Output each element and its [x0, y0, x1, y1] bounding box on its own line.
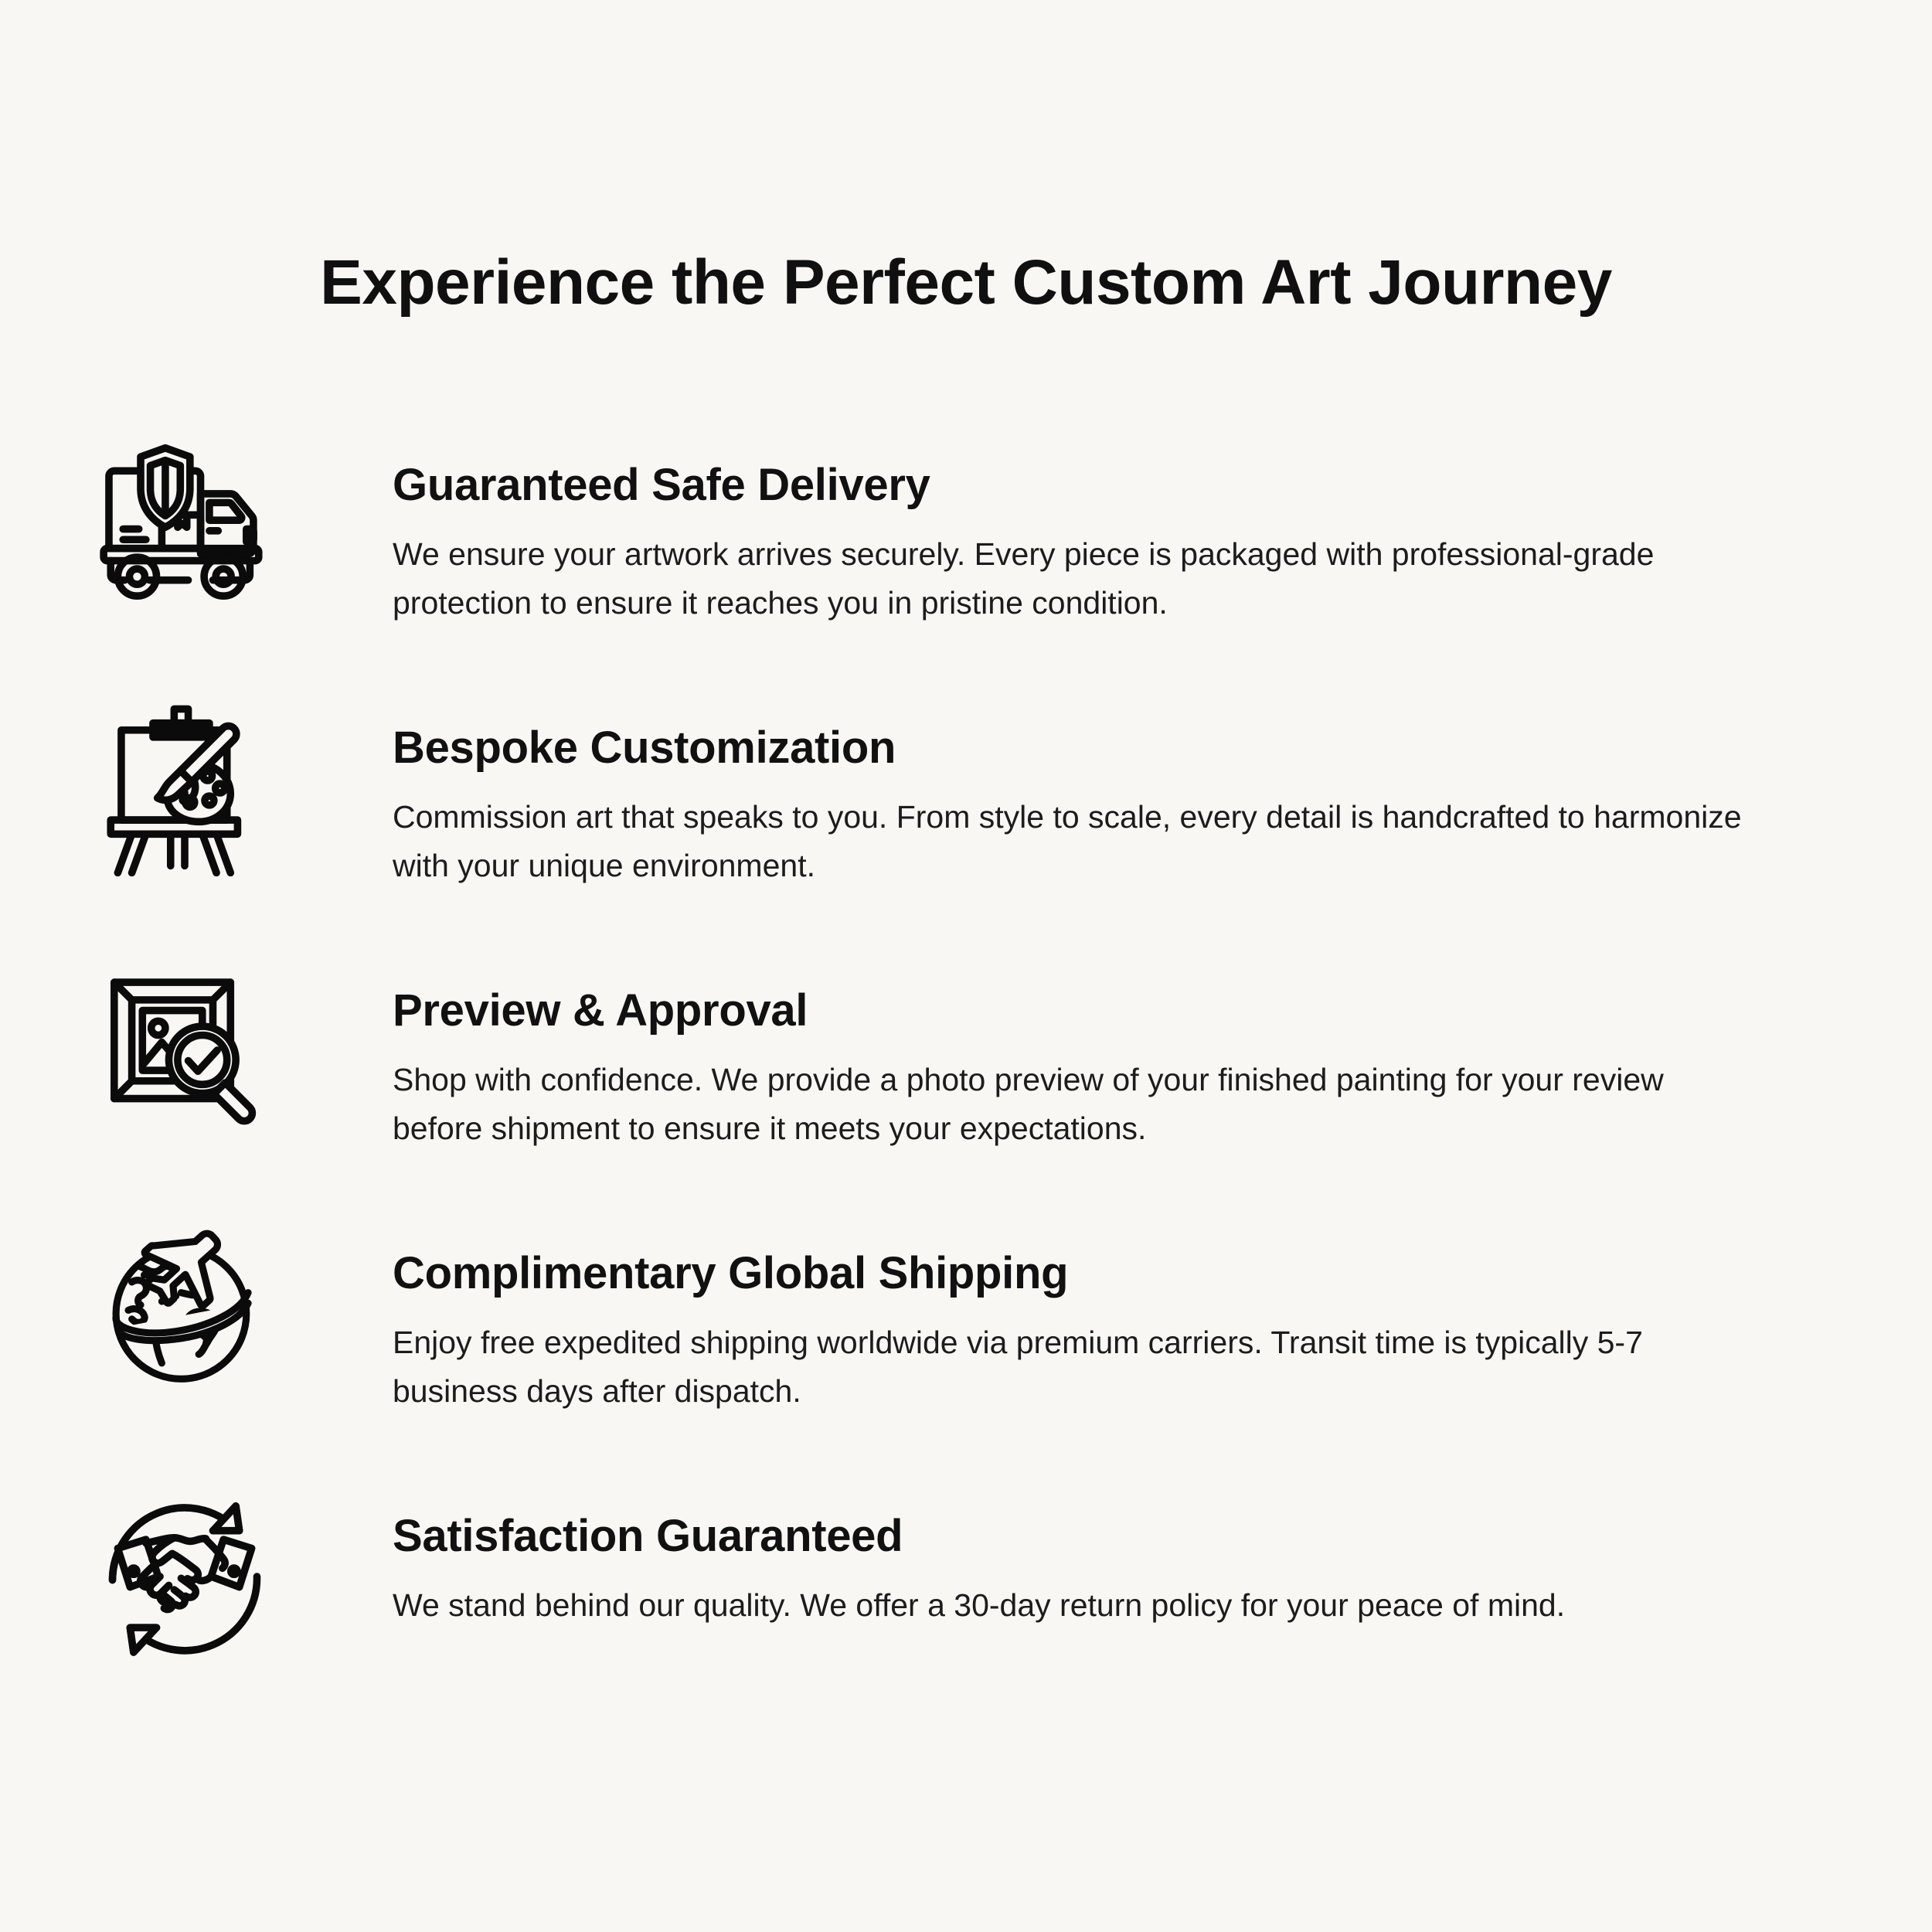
feature-highlights-page: Experience the Perfect Custom Art Journe…: [0, 0, 1932, 1932]
feature-row-safe-delivery: Guaranteed Safe Delivery We ensure your …: [0, 433, 1932, 696]
feature-row-satisfaction-guaranteed: Satisfaction Guaranteed We stand behind …: [0, 1484, 1932, 1747]
shield-truck-icon: [90, 433, 280, 623]
feature-row-preview-approval: Preview & Approval Shop with confidence.…: [0, 958, 1932, 1221]
easel-palette-brush-icon: [90, 696, 280, 886]
feature-description: We ensure your artwork arrives securely.…: [393, 530, 1748, 628]
feature-text-satisfaction-guaranteed: Satisfaction Guaranteed We stand behind …: [280, 1484, 1748, 1630]
feature-text-preview-approval: Preview & Approval Shop with confidence.…: [280, 958, 1748, 1153]
feature-description: Shop with confidence. We provide a photo…: [393, 1056, 1748, 1153]
feature-heading: Satisfaction Guaranteed: [393, 1512, 1748, 1561]
page-title: Experience the Perfect Custom Art Journe…: [0, 250, 1932, 316]
feature-text-safe-delivery: Guaranteed Safe Delivery We ensure your …: [280, 433, 1748, 628]
feature-heading: Guaranteed Safe Delivery: [393, 461, 1748, 510]
feature-description: Enjoy free expedited shipping worldwide …: [393, 1318, 1748, 1416]
handshake-return-arrows-icon: [90, 1484, 280, 1674]
feature-text-global-shipping: Complimentary Global Shipping Enjoy free…: [280, 1221, 1748, 1416]
feature-row-global-shipping: Complimentary Global Shipping Enjoy free…: [0, 1221, 1932, 1484]
feature-list: Guaranteed Safe Delivery We ensure your …: [0, 433, 1932, 1747]
framed-picture-magnifier-check-icon: [90, 958, 280, 1148]
feature-heading: Bespoke Customization: [393, 723, 1748, 773]
feature-description: Commission art that speaks to you. From …: [393, 793, 1748, 890]
feature-heading: Complimentary Global Shipping: [393, 1249, 1748, 1298]
feature-heading: Preview & Approval: [393, 986, 1748, 1036]
feature-row-bespoke-customization: Bespoke Customization Commission art tha…: [0, 696, 1932, 958]
feature-text-bespoke-customization: Bespoke Customization Commission art tha…: [280, 696, 1748, 890]
globe-airplane-icon: [90, 1221, 280, 1411]
feature-description: We stand behind our quality. We offer a …: [393, 1581, 1748, 1630]
